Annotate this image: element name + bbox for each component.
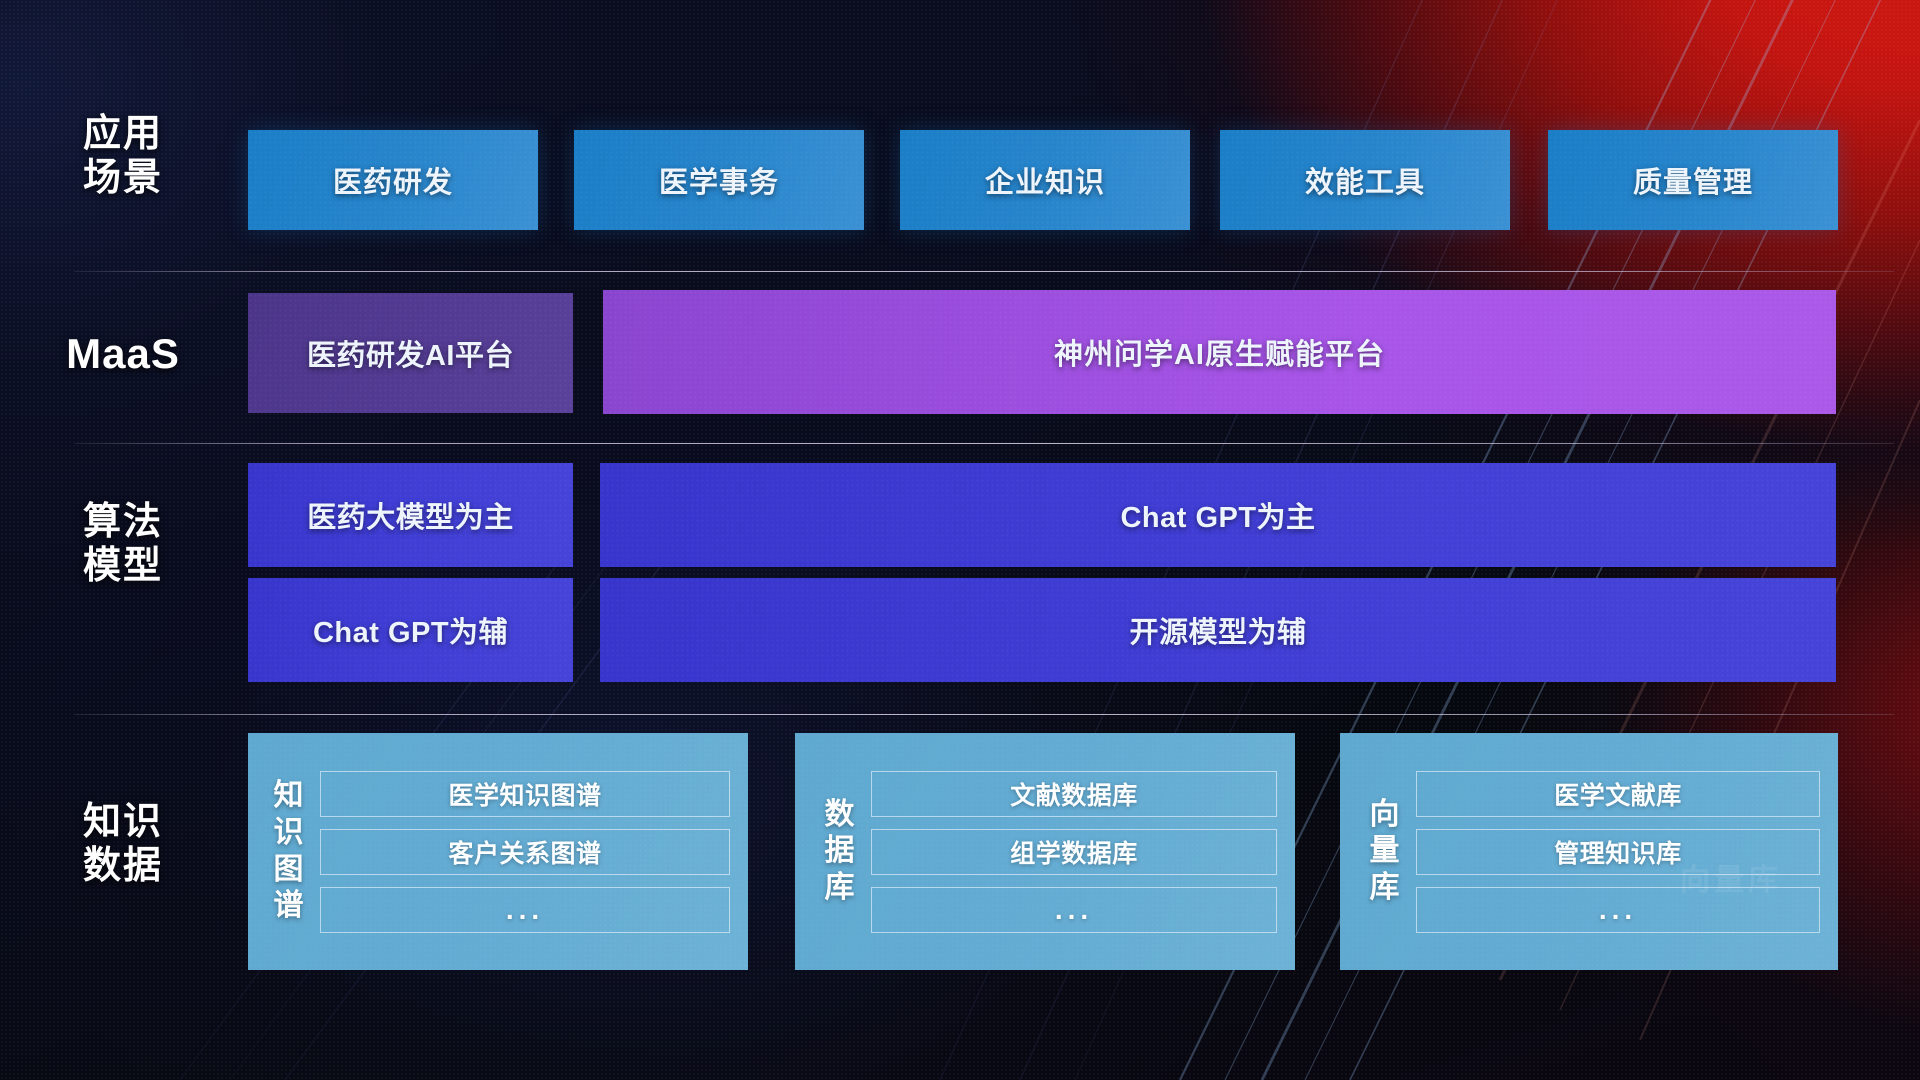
knowledge-panel-vertical-label-vector-store: 向 量 库 [1354,797,1416,907]
diagram-stage: 应用 场景 医药研发 医学事务 企业知识 效能工具 质量管理 MaaS 医药研发… [0,0,1920,1080]
knowledge-item-list-knowledge-graph: 医学知识图谱 客户关系图谱 ... [320,771,748,933]
knowledge-item-management-knowledge-store[interactable]: 管理知识库 [1416,829,1820,875]
divider-after-application-scenarios [74,271,1894,272]
algo-box-chatgpt-primary[interactable]: Chat GPT为主 [600,463,1836,567]
app-box-drug-rd[interactable]: 医药研发 [248,130,538,230]
knowledge-panel-vertical-label-knowledge-graph: 知 识 图 谱 [258,778,320,924]
app-box-medical-affairs[interactable]: 医学事务 [574,130,864,230]
divider-after-maas [74,443,1894,444]
knowledge-item-medical-knowledge-graph[interactable]: 医学知识图谱 [320,771,730,817]
knowledge-item-more-database[interactable]: ... [871,887,1277,933]
knowledge-item-more-vector-store[interactable]: ... [1416,887,1820,933]
maas-box-shenzhou-wenxue-platform[interactable]: 神州问学AI原生赋能平台 [603,290,1836,414]
maas-box-drug-rd-ai-platform[interactable]: 医药研发AI平台 [248,293,573,413]
knowledge-panel-database: 数 据 库 文献数据库 组学数据库 ... [795,733,1295,970]
row-label-application-scenarios: 应用 场景 [28,112,218,200]
knowledge-item-more-knowledge-graph[interactable]: ... [320,887,730,933]
algo-box-opensource-secondary[interactable]: 开源模型为辅 [600,578,1836,682]
row-label-knowledge-data: 知识 数据 [28,800,218,888]
app-box-quality-management[interactable]: 质量管理 [1548,130,1838,230]
divider-after-algorithm-model [74,714,1894,715]
app-box-efficiency-tools[interactable]: 效能工具 [1220,130,1510,230]
row-label-algorithm-model: 算法 模型 [28,500,218,588]
app-box-enterprise-knowledge[interactable]: 企业知识 [900,130,1190,230]
algo-box-chatgpt-secondary[interactable]: Chat GPT为辅 [248,578,573,682]
knowledge-item-list-vector-store: 医学文献库 管理知识库 ... [1416,771,1838,933]
knowledge-panel-vertical-label-database: 数 据 库 [809,797,871,907]
knowledge-panel-knowledge-graph: 知 识 图 谱 医学知识图谱 客户关系图谱 ... [248,733,748,970]
algo-box-pharma-llm-primary[interactable]: 医药大模型为主 [248,463,573,567]
knowledge-panel-vector-store: 向 量 库 医学文献库 管理知识库 ... 向量库 [1340,733,1838,970]
knowledge-item-omics-database[interactable]: 组学数据库 [871,829,1277,875]
row-label-maas: MaaS [28,330,218,379]
knowledge-item-literature-database[interactable]: 文献数据库 [871,771,1277,817]
knowledge-item-medical-literature-store[interactable]: 医学文献库 [1416,771,1820,817]
knowledge-item-list-database: 文献数据库 组学数据库 ... [871,771,1295,933]
knowledge-item-customer-relation-graph[interactable]: 客户关系图谱 [320,829,730,875]
